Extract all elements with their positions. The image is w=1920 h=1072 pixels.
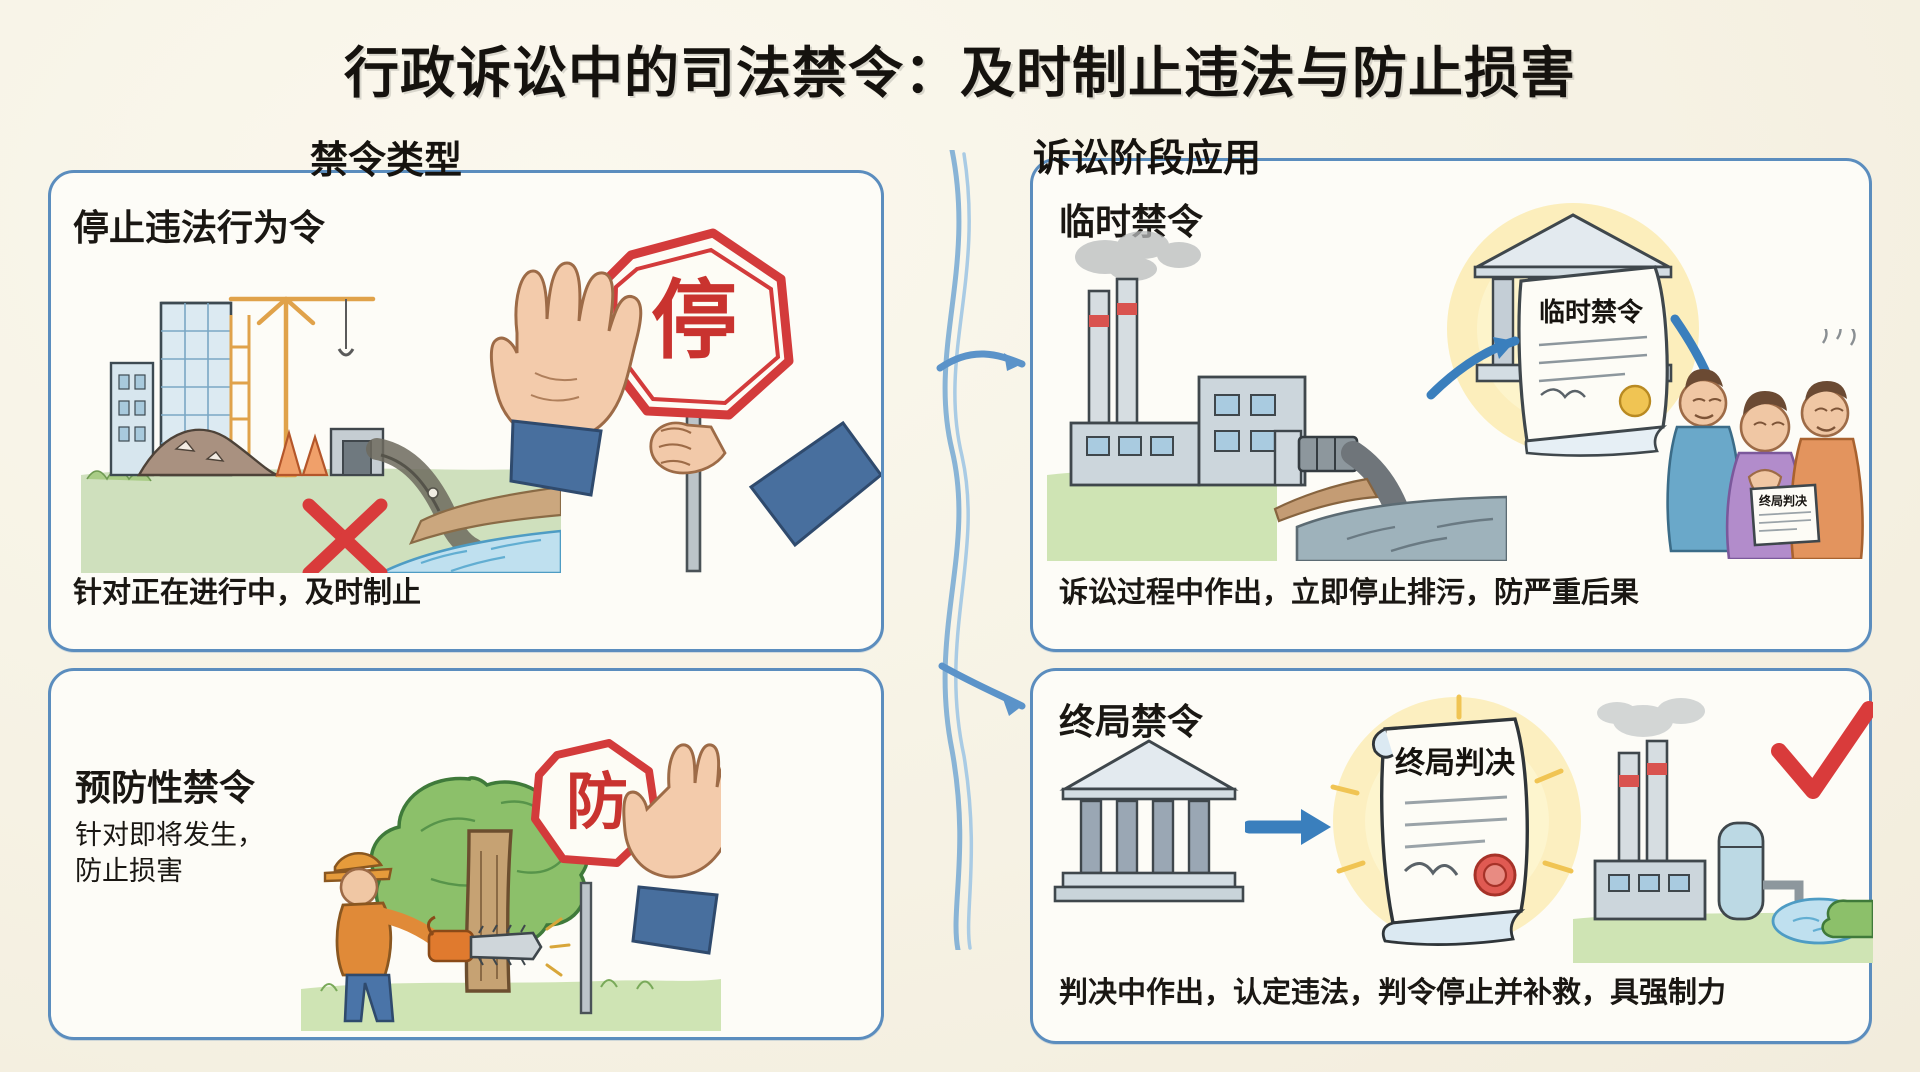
clean-smoke-icon: [1597, 698, 1705, 737]
worker-figure: [325, 853, 447, 1021]
section-header-left: 禁令类型: [292, 126, 480, 189]
worry-lines-icon: [1823, 329, 1855, 345]
card-title-stop-illegal-act: 停止违法行为令: [73, 199, 325, 251]
illustration-hand-stop-sign: 停: [451, 225, 881, 575]
card-subtitle-preventive-injunction: 针对即将发生，防止损害: [75, 817, 264, 890]
card-caption-stop-illegal-act: 针对正在进行中，及时制止: [73, 569, 421, 611]
cross-mark-icon: [309, 505, 381, 573]
stop-sign-icon: 停: [601, 233, 789, 415]
stop-sign-text: 停: [651, 273, 737, 369]
glow-rays: [1333, 697, 1571, 871]
judgment-title-text: 终局判决: [1395, 747, 1515, 780]
infographic-canvas: 行政诉讼中的司法禁令：及时制止违法与防止损害 禁令类型 诉讼阶段应用 停止违法行…: [0, 0, 1920, 1072]
card-title-final-injunction: 终局禁令: [1059, 693, 1203, 745]
arrow-court-to-judgment-icon: [1245, 797, 1335, 857]
illustration-construction-pollution: [81, 243, 561, 573]
chainsaw-icon: [428, 917, 541, 965]
illustration-final-judgment-scroll: 终局判决: [1309, 691, 1599, 961]
illustration-factory-discharge: [1047, 231, 1507, 561]
tree-icon: [371, 778, 588, 991]
courthouse-icon: [1475, 215, 1671, 381]
section-header-left-label: 禁令类型: [310, 140, 462, 182]
card-stop-illegal-act[interactable]: 停止违法行为令 针对正在进行中，及时制止: [48, 170, 884, 652]
illustration-courthouse-final: [1049, 731, 1249, 911]
card-preventive-injunction[interactable]: 预防性禁令 针对即将发生，防止损害: [48, 668, 884, 1040]
center-divider: [880, 150, 1040, 950]
check-mark-icon: [1779, 709, 1869, 791]
card-caption-final-injunction: 判决中作出，认定违法，判令停止并补救，具强制力: [1059, 969, 1726, 1011]
illustration-tree-chainsaw: 防: [301, 691, 721, 1031]
illustration-affected-citizens: 终局判决: [1665, 329, 1865, 559]
card-temporary-injunction[interactable]: 临时禁令 诉讼过程中作出，立即停止排污，防严重后果: [1030, 158, 1872, 652]
illustration-compliant-factory: [1573, 695, 1873, 963]
section-header-right: 诉讼阶段应用: [1015, 124, 1279, 187]
flow-arrows: [1431, 319, 1719, 403]
document-title-text: 临时禁令: [1539, 297, 1644, 327]
illustration-court-temporary-order: 临时禁令: [1423, 189, 1723, 489]
prevention-sign-text: 防: [566, 768, 628, 837]
prevention-sign-icon: 防: [535, 743, 657, 1013]
card-caption-temporary-injunction: 诉讼过程中作出，立即停止排污，防严重后果: [1059, 569, 1639, 611]
citizen-held-paper: 终局判决: [1751, 485, 1819, 545]
red-seal-icon: [1475, 855, 1515, 895]
card-final-injunction[interactable]: 终局禁令 判决中作出，认定违法，判令停止并补救，具强制力: [1030, 668, 1872, 1044]
page-title: 行政诉讼中的司法禁令：及时制止违法与防止损害: [0, 28, 1920, 108]
section-header-right-label: 诉讼阶段应用: [1033, 138, 1261, 180]
temporary-order-document: 临时禁令: [1519, 267, 1667, 456]
card-title-preventive-injunction: 预防性禁令: [75, 759, 255, 811]
citizen-paper-text: 终局判决: [1759, 493, 1808, 508]
card-title-temporary-injunction: 临时禁令: [1059, 193, 1203, 245]
